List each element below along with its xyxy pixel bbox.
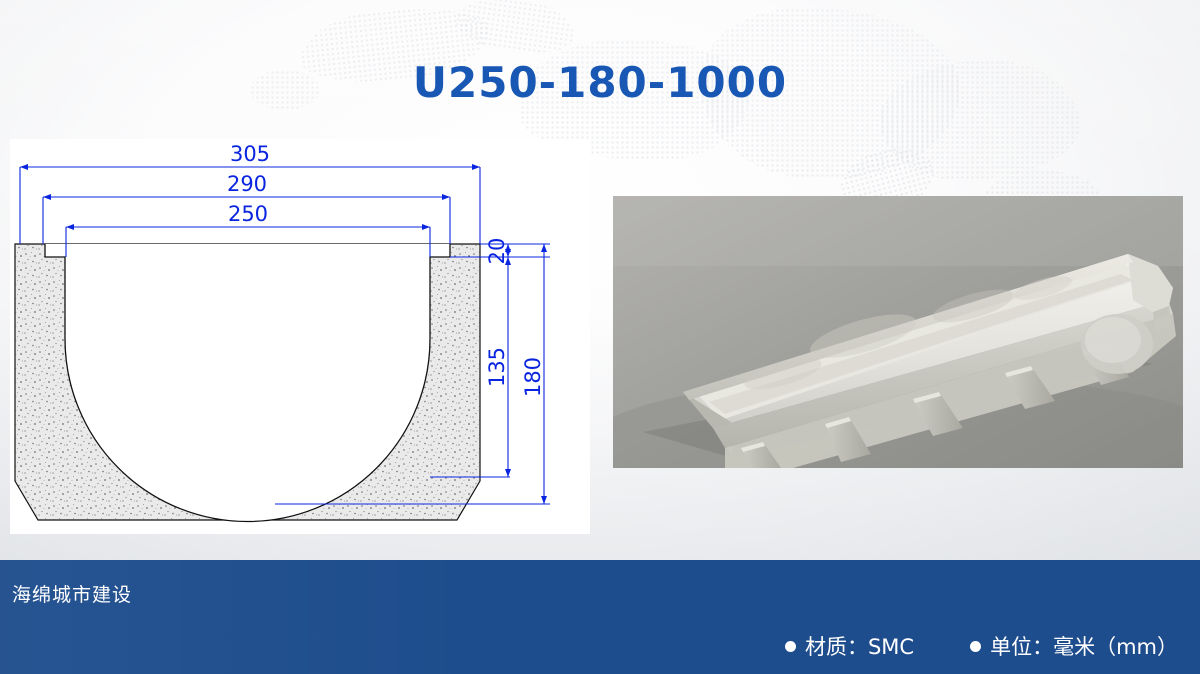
spec-unit-label: 单位：毫米（mm） — [990, 631, 1178, 661]
bullet-icon — [785, 641, 796, 652]
drawing-panel: 305 290 250 20 135 180 — [10, 139, 590, 534]
bullet-icon — [970, 641, 981, 652]
spec-material-label: 材质：SMC — [805, 631, 914, 661]
dim-label-inner-depth: 135 — [485, 347, 509, 387]
world-map-dots-icon — [452, 0, 578, 60]
brand-text: 海绵城市建设 — [12, 580, 132, 607]
page-title: U250-180-1000 — [0, 58, 1200, 107]
dim-label-rim-depth: 20 — [485, 238, 509, 265]
spec-row: 材质：SMC 单位：毫米（mm） — [785, 631, 1178, 661]
product-photo — [613, 196, 1183, 468]
spec-unit: 单位：毫米（mm） — [970, 631, 1178, 661]
dim-label-top-outer-width: 305 — [230, 142, 270, 166]
dim-label-channel-width: 250 — [228, 202, 268, 226]
channel-body — [15, 244, 480, 522]
spec-material: 材质：SMC — [785, 631, 914, 661]
dim-label-total-height: 180 — [521, 357, 545, 397]
dim-label-top-inner-width: 290 — [227, 172, 267, 196]
